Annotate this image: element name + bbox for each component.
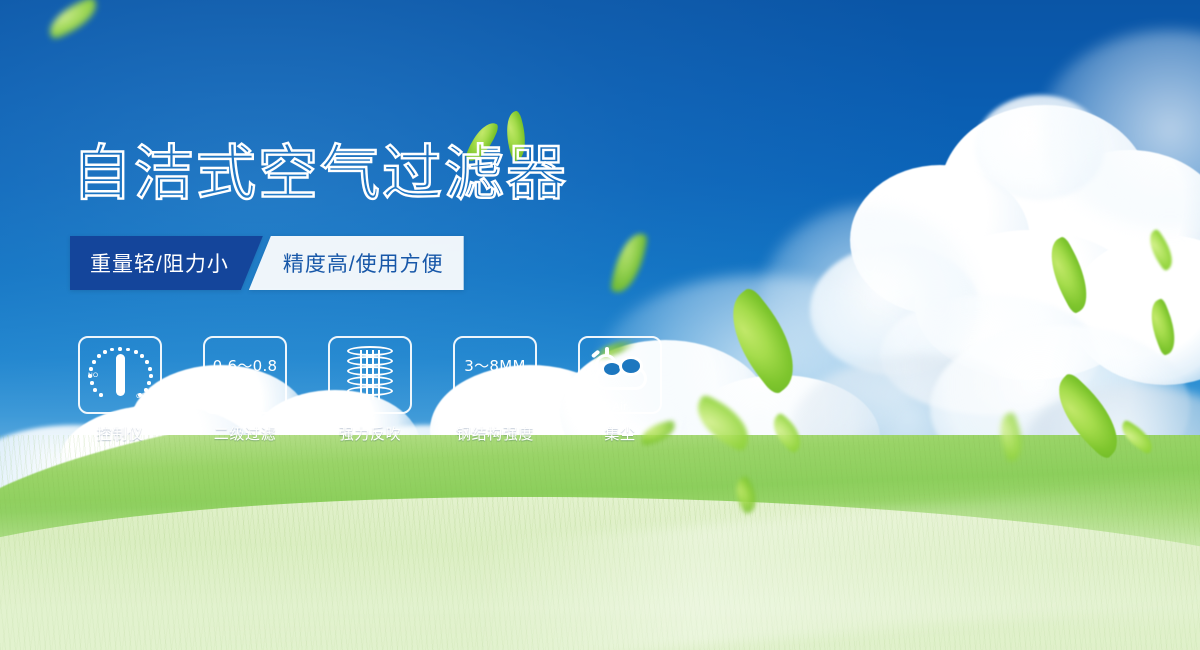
feature-label: 强力反吹 xyxy=(328,423,412,444)
feature-label: 控制仪 xyxy=(78,423,162,444)
feature-label: 二级过滤 xyxy=(203,423,287,444)
air-cloud-icon: Air xyxy=(589,350,651,400)
gauge-no-label: NO xyxy=(88,372,98,379)
subtitle-left-segment: 重量轻/阻力小 xyxy=(70,236,263,290)
page-title: 自洁式空气过滤器 xyxy=(72,144,568,204)
subtitle-bar: 重量轻/阻力小 精度高/使用方便 xyxy=(70,236,464,290)
feature-label: 钢结构强度 xyxy=(453,423,537,444)
pressure-line2: MPA xyxy=(229,375,261,392)
feature-icon-box[interactable]: 0.6～0.8 MPA xyxy=(203,336,287,414)
gauge-icon: NO OFF xyxy=(88,345,152,405)
steel-line1: 3～8MM xyxy=(464,358,525,375)
pressure-line1: 0.6～0.8 xyxy=(213,358,278,375)
coil-filter-icon xyxy=(347,346,393,404)
feature-item[interactable]: NO OFF 控制仪 xyxy=(78,336,162,444)
air-label: Air xyxy=(589,401,651,413)
feature-icon-box[interactable] xyxy=(328,336,412,414)
feature-item[interactable]: 强力反吹 xyxy=(328,336,412,444)
feature-icon-box[interactable]: 3～8MM 钢板 xyxy=(453,336,537,414)
feature-item[interactable]: 3～8MM 钢板 钢结构强度 xyxy=(453,336,537,444)
feature-item[interactable]: 0.6～0.8 MPA 二级过滤 xyxy=(203,336,287,444)
subtitle-right-segment: 精度高/使用方便 xyxy=(249,236,464,290)
steel-line2: 钢板 xyxy=(480,375,511,392)
grass-ground xyxy=(0,435,1200,650)
feature-icon-box[interactable]: Air xyxy=(578,336,662,414)
feature-label: 集尘 xyxy=(578,423,662,444)
feature-icon-box[interactable]: NO OFF xyxy=(78,336,162,414)
gauge-off-label: OFF xyxy=(136,393,150,400)
feature-list: NO OFF 控制仪 0.6～0.8 MPA 二级过滤 xyxy=(78,336,662,444)
feature-item[interactable]: Air 集尘 xyxy=(578,336,662,444)
hero-banner: 自洁式空气过滤器 重量轻/阻力小 精度高/使用方便 xyxy=(0,0,1200,650)
